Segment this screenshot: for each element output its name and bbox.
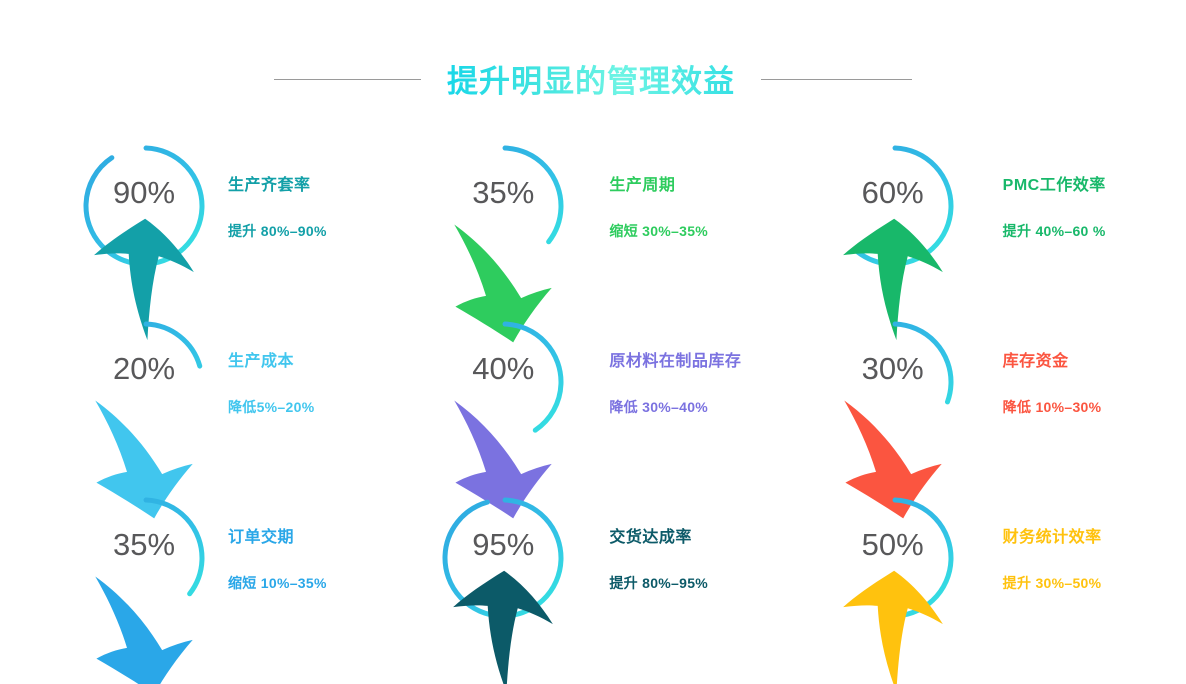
metric-card: 20%生产成本降低5%–20%	[0, 294, 395, 470]
dial-percent-value: 35%	[472, 177, 534, 208]
metric-labels: 生产周期缩短 30%–35%	[583, 171, 790, 241]
dial-percent-value: 60%	[862, 177, 924, 208]
metric-labels: 交货达成率提升 80%–95%	[583, 523, 790, 593]
metric-card: 50%财务统计效率提升 30%–50%	[791, 470, 1186, 646]
metric-card: 90%生产齐套率提升 80%–90%	[0, 118, 395, 294]
metric-card: 30%库存资金降低 10%–30%	[791, 294, 1186, 470]
metric-delta: 降低 10%–30%	[1003, 397, 1186, 417]
arrow-up-icon	[825, 212, 961, 236]
arrow-up-icon	[76, 212, 212, 236]
dial-wrapper: 35%	[423, 138, 583, 274]
dial-wrapper: 20%	[64, 314, 224, 450]
dial-center: 20%	[76, 314, 212, 450]
metric-name: 生产成本	[228, 347, 395, 371]
metric-labels: 生产齐套率提升 80%–90%	[224, 171, 395, 241]
dial-wrapper: 35%	[64, 490, 224, 626]
dial-center: 40%	[435, 314, 571, 450]
metric-grid: 90%生产齐套率提升 80%–90%35%生产周期缩短 30%–35%60%PM…	[0, 118, 1186, 646]
dial-center: 30%	[825, 314, 961, 450]
dial-center: 95%	[435, 490, 571, 626]
metric-delta: 提升 80%–95%	[609, 573, 790, 593]
dial-wrapper: 95%	[423, 490, 583, 626]
progress-dial: 90%	[76, 138, 212, 274]
metric-card: 35%订单交期缩短 10%–35%	[0, 470, 395, 646]
dial-percent-value: 35%	[113, 529, 175, 560]
dial-percent-value: 95%	[472, 529, 534, 560]
infographic-page: 提升明显的管理效益 90%生产齐套率提升 80%–90%35%生产周期缩短 30…	[0, 0, 1186, 684]
dial-center: 90%	[76, 138, 212, 274]
metric-name: 库存资金	[1003, 347, 1186, 371]
metric-labels: 订单交期缩短 10%–35%	[224, 523, 395, 593]
progress-dial: 50%	[825, 490, 961, 626]
dial-percent-value: 90%	[113, 177, 175, 208]
metric-delta: 降低5%–20%	[228, 397, 395, 417]
arrow-up-icon	[825, 564, 961, 588]
dial-percent-value: 30%	[862, 353, 924, 384]
progress-dial: 35%	[76, 490, 212, 626]
metric-delta: 缩短 10%–35%	[228, 573, 395, 593]
metric-delta: 提升 80%–90%	[228, 221, 395, 241]
metric-name: 生产齐套率	[228, 171, 395, 195]
metric-card: 35%生产周期缩短 30%–35%	[395, 118, 790, 294]
dial-wrapper: 60%	[813, 138, 973, 274]
page-title: 提升明显的管理效益	[447, 56, 735, 103]
metric-name: 交货达成率	[609, 523, 790, 547]
arrow-down-icon	[435, 388, 571, 412]
dial-wrapper: 50%	[813, 490, 973, 626]
arrow-down-icon	[76, 564, 212, 588]
progress-dial: 60%	[825, 138, 961, 274]
metric-name: 生产周期	[609, 171, 790, 195]
title-rule-right	[761, 79, 912, 80]
arrow-down-icon	[435, 212, 571, 236]
progress-dial: 20%	[76, 314, 212, 450]
metric-card: 40%原材料在制品库存降低 30%–40%	[395, 294, 790, 470]
metric-labels: 原材料在制品库存降低 30%–40%	[583, 347, 790, 417]
dial-percent-value: 50%	[862, 529, 924, 560]
dial-percent-value: 40%	[472, 353, 534, 384]
metric-name: PMC工作效率	[1003, 171, 1186, 195]
dial-center: 60%	[825, 138, 961, 274]
arrow-down-icon	[825, 388, 961, 412]
dial-percent-value: 20%	[113, 353, 175, 384]
dial-center: 35%	[76, 490, 212, 626]
metric-labels: PMC工作效率提升 40%–60 %	[973, 171, 1186, 241]
metric-labels: 生产成本降低5%–20%	[224, 347, 395, 417]
metric-name: 原材料在制品库存	[609, 347, 790, 371]
dial-wrapper: 40%	[423, 314, 583, 450]
metric-delta: 缩短 30%–35%	[609, 221, 790, 241]
metric-delta: 提升 30%–50%	[1003, 573, 1186, 593]
dial-wrapper: 30%	[813, 314, 973, 450]
title-rule-left	[274, 79, 421, 80]
metric-delta: 提升 40%–60 %	[1003, 221, 1186, 241]
metric-name: 财务统计效率	[1003, 523, 1186, 547]
metric-delta: 降低 30%–40%	[609, 397, 790, 417]
arrow-up-icon	[435, 564, 571, 588]
metric-labels: 财务统计效率提升 30%–50%	[973, 523, 1186, 593]
metric-name: 订单交期	[228, 523, 395, 547]
metric-card: 95%交货达成率提升 80%–95%	[395, 470, 790, 646]
dial-wrapper: 90%	[64, 138, 224, 274]
metric-labels: 库存资金降低 10%–30%	[973, 347, 1186, 417]
progress-dial: 30%	[825, 314, 961, 450]
progress-dial: 35%	[435, 138, 571, 274]
dial-center: 35%	[435, 138, 571, 274]
progress-dial: 95%	[435, 490, 571, 626]
page-header: 提升明显的管理效益	[0, 56, 1186, 103]
progress-dial: 40%	[435, 314, 571, 450]
dial-center: 50%	[825, 490, 961, 626]
metric-card: 60%PMC工作效率提升 40%–60 %	[791, 118, 1186, 294]
arrow-down-icon	[76, 388, 212, 412]
